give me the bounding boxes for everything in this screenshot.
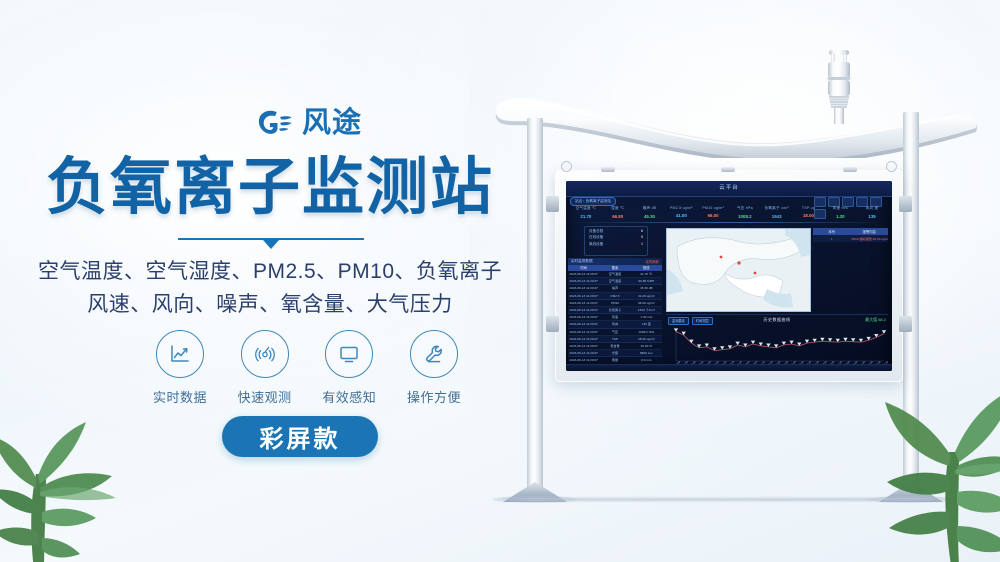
device-kpi-box: 设备总数6在线设备5离线设备1 — [584, 226, 648, 256]
frame-clip — [601, 167, 615, 172]
metric-value: 21.70 — [570, 214, 602, 219]
table-cell: 2023-06-13 11:20:07 — [568, 293, 599, 299]
table-row[interactable]: 2023-06-13 11:20:07空气温度21.70 ℃ — [568, 271, 662, 278]
metric-card: 湿度 ℃66.80 — [602, 206, 634, 219]
cta-button-color-screen[interactable]: 彩屏款 — [222, 416, 378, 457]
metric-value: 1008.2 — [729, 214, 761, 219]
feature-label: 有效感知 — [311, 387, 387, 406]
alarm-column-header: 序号 — [813, 229, 851, 234]
history-chart[interactable]: 监测要素 时间范围 历史数据曲线 最大值 68.2 00:0001:0002:0… — [666, 314, 888, 370]
table-cell: PM2.5 — [599, 293, 630, 299]
subtitle-line-1: 空气温度、空气湿度、PM2.5、PM10、负氧离子 — [0, 256, 540, 289]
table-cell: PM10 — [599, 300, 630, 306]
table-cell: 风速 — [599, 314, 630, 320]
table-cell: 2023-06-13 11:20:07 — [568, 271, 599, 277]
metric-label: PM10 ug/m³ — [697, 206, 729, 210]
table-row[interactable]: 2023-06-13 11:20:07空气湿度66.80 %RH — [568, 278, 662, 285]
ground-shadow — [488, 498, 958, 501]
table-cell: TSP — [599, 336, 630, 342]
kpi-row: 设备总数6 — [585, 227, 647, 234]
feature-list: 实时数据 快速观测 — [142, 330, 472, 406]
table-cell: 1008.2 hPa — [631, 329, 662, 335]
metric-divider — [570, 222, 888, 223]
monitoring-station-illustration: 云平台 站点：负氧离子监测站 空气温度 ℃21.70湿度 ℃66.80噪声 dB… — [470, 0, 1000, 562]
subtitle-line-2: 风速、风向、噪声、氧含量、大气压力 — [0, 289, 540, 322]
line-chart-icon — [156, 330, 204, 378]
metric-card: 负氧离子 /cm³1543 — [761, 206, 793, 219]
metric-card: 风速 m/s1.30 — [824, 206, 856, 219]
table-row[interactable]: 2023-06-13 11:20:07PM2.541.00 ug/m³ — [568, 293, 662, 300]
table-row[interactable]: 2023-06-13 11:20:07TSP18.00 ug/m³ — [568, 336, 662, 343]
chart-title: 历史数据曲线 — [666, 317, 888, 323]
table-title-bar: 实时监测数据 实时刷新 — [568, 258, 662, 265]
feature-item-easy-operation: 操作方便 — [396, 330, 472, 406]
table-cell: 风向 — [599, 321, 630, 327]
support-post-left — [527, 118, 543, 490]
mount-bracket-right-bottom — [899, 316, 912, 332]
table-row[interactable]: 2023-06-13 11:20:07风向135 度 — [568, 321, 662, 328]
table-cell: 135 度 — [631, 321, 662, 327]
feature-item-realtime-data: 实时数据 — [142, 330, 218, 406]
table-row[interactable]: 2023-06-13 11:20:07负氧离子1543 个/cm³ — [568, 307, 662, 314]
table-row[interactable]: 2023-06-13 11:20:07PM1066.00 ug/m³ — [568, 300, 662, 307]
chart-readout: 最大值 68.2 — [865, 317, 886, 323]
display-panel-frame: 云平台 站点：负氧离子监测站 空气温度 ℃21.70湿度 ℃66.80噪声 dB… — [555, 170, 903, 382]
table-cell: 负氧离子 — [599, 307, 630, 313]
table-cell: 2023-06-13 11:20:07 — [568, 300, 599, 306]
table-row[interactable]: 2023-06-13 11:20:07光照8600 Lux — [568, 350, 662, 357]
table-cell: 2023-06-13 11:20:07 — [568, 285, 599, 291]
feature-item-effective-sensing: 有效感知 — [311, 330, 387, 406]
alarm-body: 1PM10 超标报警 66.00 ug/m³ — [813, 235, 888, 242]
table-refresh-badge: 实时刷新 — [645, 259, 659, 264]
table-cell: 氧含量 — [599, 343, 630, 349]
table-cell: 1543 个/cm³ — [631, 307, 662, 313]
metric-value: 45.30 — [634, 214, 666, 219]
alarm-cell: 1 — [813, 237, 851, 241]
realtime-data-table[interactable]: 实时监测数据 实时刷新 时间要素数值 2023-06-13 11:20:07空气… — [568, 258, 662, 365]
metric-card: PM10 ug/m³66.00 — [697, 206, 729, 219]
kpi-row: 离线设备1 — [585, 240, 647, 247]
table-row[interactable]: 2023-06-13 11:20:07风速1.30 m/s — [568, 314, 662, 321]
title-divider — [178, 234, 364, 248]
page-title: 负氧离子监测站 — [0, 155, 540, 220]
station-selector-label: 站点：负氧离子监测站 — [571, 198, 615, 205]
station-selector-pill[interactable]: 站点：负氧离子监测站 — [570, 197, 616, 206]
table-cell: 66.80 %RH — [631, 278, 662, 284]
metric-value: 41.00 — [665, 213, 697, 218]
metric-value: 135 — [856, 214, 888, 219]
table-cell: 66.00 ug/m³ — [631, 300, 662, 306]
alarm-column-header: 报警内容 — [851, 229, 889, 234]
frame-clip — [721, 167, 735, 172]
metric-card: 风向 度135 — [856, 206, 888, 219]
mount-bracket-left-top — [546, 196, 559, 212]
station-map[interactable] — [666, 228, 811, 312]
table-cell: 2023-06-13 11:20:07 — [568, 307, 599, 313]
table-cell: 噪声 — [599, 285, 630, 291]
table-cell: 0.0 mm — [631, 357, 662, 363]
wrench-icon — [410, 330, 458, 378]
promo-banner: 风途 负氧离子监测站 空气温度、空气湿度、PM2.5、PM10、负氧离子 风速、… — [0, 0, 1000, 562]
table-cell: 45.30 dB — [631, 285, 662, 291]
table-cell: 2023-06-13 11:20:07 — [568, 343, 599, 349]
metric-card: PM2.5 ug/m³41.00 — [665, 206, 697, 219]
metric-card: TSP ug18.00 — [793, 206, 825, 219]
metric-label: 风速 m/s — [824, 206, 856, 211]
frame-hook-right — [886, 161, 897, 172]
metric-value: 1.30 — [824, 214, 856, 219]
table-row[interactable]: 2023-06-13 11:20:07气压1008.2 hPa — [568, 329, 662, 336]
table-cell: 空气温度 — [599, 271, 630, 277]
metric-value: 66.80 — [602, 214, 634, 219]
left-content-block: 风途 负氧离子监测站 空气温度、空气湿度、PM2.5、PM10、负氧离子 风速、… — [0, 0, 540, 562]
table-cell: 2023-06-13 11:20:07 — [568, 278, 599, 284]
table-body: 2023-06-13 11:20:07空气温度21.70 ℃2023-06-13… — [568, 271, 662, 365]
support-post-right — [903, 112, 919, 490]
metric-value: 66.00 — [697, 213, 729, 218]
feature-label: 实时数据 — [142, 387, 218, 406]
table-cell: 20.90 % — [631, 343, 662, 349]
metric-card: 空气温度 ℃21.70 — [570, 206, 602, 219]
metric-value: 18.00 — [793, 213, 825, 218]
metric-label: 气压 hPa — [729, 206, 761, 211]
table-cell: 2023-06-13 11:20:07 — [568, 329, 599, 335]
brand-name: 风途 — [302, 109, 362, 138]
kpi-label: 离线设备 — [589, 242, 603, 247]
alarm-header-row: 序号报警内容 — [813, 228, 888, 235]
table-title: 实时监测数据 — [571, 259, 593, 264]
table-row[interactable]: 2023-06-13 11:20:07噪声45.30 dB — [568, 285, 662, 292]
metric-label: PM2.5 ug/m³ — [665, 206, 697, 210]
table-cell: 2023-06-13 11:20:07 — [568, 314, 599, 320]
kpi-row: 在线设备5 — [585, 234, 647, 241]
dashboard-title: 云平台 — [566, 183, 892, 191]
mount-bracket-right-top — [899, 196, 912, 212]
table-cell: 18.00 ug/m³ — [631, 336, 662, 342]
kpi-value: 1 — [641, 242, 643, 247]
metric-label: 负氧离子 /cm³ — [761, 206, 793, 211]
table-cell: 8600 Lux — [631, 350, 662, 356]
kpi-value: 5 — [641, 235, 643, 240]
alarm-cell: PM10 超标报警 66.00 ug/m³ — [851, 236, 889, 241]
metric-card: 气压 hPa1008.2 — [729, 206, 761, 219]
metric-card: 噪声 dB45.30 — [634, 206, 666, 219]
brand-logo: 风途 — [255, 106, 362, 140]
metric-label: TSP ug — [793, 206, 825, 210]
table-cell: 2023-06-13 11:20:07 — [568, 336, 599, 342]
alarm-row[interactable]: 1PM10 超标报警 66.00 ug/m³ — [813, 235, 888, 242]
table-cell: 光照 — [599, 350, 630, 356]
metric-card-row: 空气温度 ℃21.70湿度 ℃66.80噪声 dB45.30PM2.5 ug/m… — [570, 206, 888, 219]
table-cell: 21.70 ℃ — [631, 271, 662, 277]
mount-bracket-left-bottom — [546, 316, 559, 332]
table-cell: 2023-06-13 11:20:07 — [568, 357, 599, 363]
table-cell: 2023-06-13 11:20:07 — [568, 350, 599, 356]
table-cell: 2023-06-13 11:20:07 — [568, 321, 599, 327]
kpi-label: 设备总数 — [589, 229, 603, 234]
table-cell: 雨量 — [599, 357, 630, 363]
divider-triangle-icon — [263, 240, 279, 249]
kpi-label: 在线设备 — [589, 235, 603, 240]
metric-label: 噪声 dB — [634, 206, 666, 211]
metric-label: 空气温度 ℃ — [570, 206, 602, 211]
dashboard-screen[interactable]: 云平台 站点：负氧离子监测站 空气温度 ℃21.70湿度 ℃66.80噪声 dB… — [566, 181, 892, 371]
feature-label: 快速观测 — [227, 387, 303, 406]
feature-label: 操作方便 — [396, 387, 472, 406]
subtitle-block: 空气温度、空气湿度、PM2.5、PM10、负氧离子 风速、风向、噪声、氧含量、大… — [0, 256, 540, 321]
monitor-screen-icon — [325, 330, 373, 378]
radar-scan-icon — [241, 330, 289, 378]
frame-clip — [843, 167, 857, 172]
table-cell: 气压 — [599, 329, 630, 335]
metric-value: 1543 — [761, 214, 793, 219]
table-row[interactable]: 2023-06-13 11:20:07氧含量20.90 % — [568, 343, 662, 350]
metric-label: 风向 度 — [856, 206, 888, 211]
kpi-value: 6 — [641, 229, 643, 234]
dashboard-footer-strip[interactable] — [566, 364, 892, 371]
frame-hook-left — [561, 161, 572, 172]
table-cell: 41.00 ug/m³ — [631, 293, 662, 299]
fengtu-wind-logo-icon — [255, 106, 295, 140]
table-cell: 空气湿度 — [599, 278, 630, 284]
table-cell: 1.30 m/s — [631, 314, 662, 320]
metric-label: 湿度 ℃ — [602, 206, 634, 211]
feature-item-fast-observation: 快速观测 — [227, 330, 303, 406]
alarm-panel[interactable]: 序号报警内容 1PM10 超标报警 66.00 ug/m³ — [813, 228, 888, 242]
